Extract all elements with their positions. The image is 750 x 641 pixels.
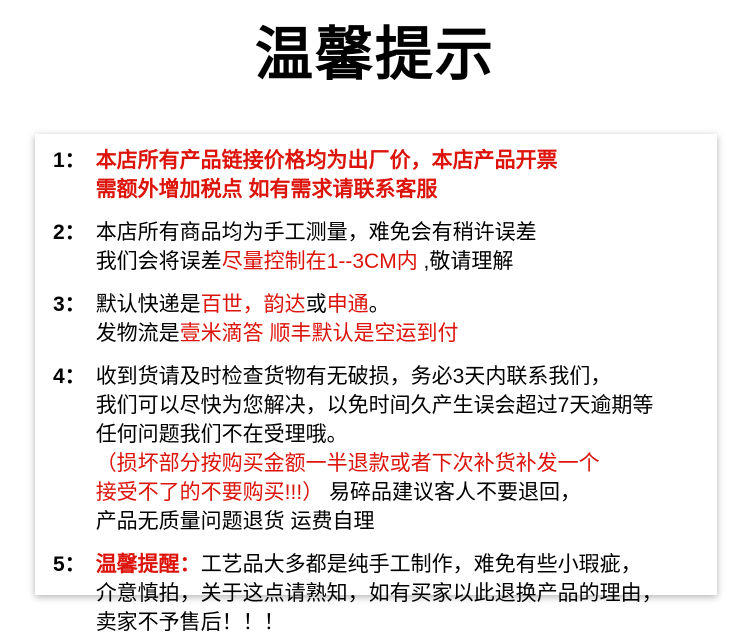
notice-item: 3：默认快递是百世，韵达或申通。发物流是壹米滴答 顺丰默认是空运到付 — [35, 290, 717, 348]
notice-item-body: 默认快递是百世，韵达或申通。发物流是壹米滴答 顺丰默认是空运到付 — [96, 290, 707, 348]
notice-line: 温馨提醒：工艺品大多都是纯手工制作，难免有些小瑕疵， — [96, 550, 707, 579]
notice-line: 本店所有产品链接价格均为出厂价，本店产品开票 — [96, 146, 707, 175]
notice-text-segment: 需额外增加税点 如有需求请联系客服 — [96, 178, 438, 201]
notice-text-segment: ,敬请理解 — [418, 250, 514, 273]
notice-text-segment: 我们会将误差 — [96, 250, 222, 273]
notice-line: 介意慎拍，关于这点请熟知，如有买家以此退换产品的理由， — [96, 579, 707, 608]
notice-item-body: 本店所有商品均为手工测量，难免会有稍许误差我们会将误差尽量控制在1--3CM内 … — [96, 218, 707, 276]
notice-text-segment: 申通 — [327, 293, 369, 316]
notice-text-segment: 工艺品大多都是纯手工制作，难免有些小瑕疵， — [201, 553, 642, 576]
notice-text-segment: 我们可以尽快为您解决，以免时间久产生误会超过7天逾期等 — [96, 394, 654, 417]
page-title: 温馨提示 — [255, 22, 495, 88]
notice-text-segment: 尽量控制在1--3CM内 — [222, 250, 418, 273]
notice-text-segment: 任何问题我们不在受理哦。 — [96, 423, 348, 446]
notice-item-number: 2： — [53, 218, 96, 247]
notice-text-segment: 默认快递是 — [96, 293, 201, 316]
notice-page: 温馨提示 1：本店所有产品链接价格均为出厂价，本店产品开票需额外增加税点 如有需… — [0, 0, 750, 641]
notice-line: 卖家不予售后！！！ — [96, 608, 707, 637]
notice-text-segment: 或 — [306, 293, 327, 316]
notice-item: 1：本店所有产品链接价格均为出厂价，本店产品开票需额外增加税点 如有需求请联系客… — [35, 146, 717, 204]
notice-card: 1：本店所有产品链接价格均为出厂价，本店产品开票需额外增加税点 如有需求请联系客… — [35, 134, 717, 595]
notice-text-segment: 发物流是 — [96, 322, 180, 345]
notice-item-number: 1： — [53, 146, 96, 175]
notice-line: 发物流是壹米滴答 顺丰默认是空运到付 — [96, 319, 707, 348]
notice-line: 默认快递是百世，韵达或申通。 — [96, 290, 707, 319]
notice-line: 我们会将误差尽量控制在1--3CM内 ,敬请理解 — [96, 247, 707, 276]
notice-text-segment: （损坏部分按购买金额一半退款或者下次补货补发一个 — [96, 452, 600, 475]
notice-text-segment: 本店所有商品均为手工测量，难免会有稍许误差 — [96, 221, 537, 244]
notice-text-segment: 。 — [369, 293, 390, 316]
notice-line: 产品无质量问题退货 运费自理 — [96, 507, 707, 536]
notice-item-number: 5： — [53, 550, 96, 579]
notice-line: 需额外增加税点 如有需求请联系客服 — [96, 175, 707, 204]
notice-item: 4：收到货请及时检查货物有无破损，务必3天内联系我们，我们可以尽快为您解决，以免… — [35, 362, 717, 536]
notice-text-segment: 百世，韵达 — [201, 293, 306, 316]
notice-line: 收到货请及时检查货物有无破损，务必3天内联系我们， — [96, 362, 707, 391]
notice-line: 任何问题我们不在受理哦。 — [96, 420, 707, 449]
notice-text-segment: 收到货请及时检查货物有无破损，务必3天内联系我们， — [96, 365, 612, 388]
notice-item-body: 收到货请及时检查货物有无破损，务必3天内联系我们，我们可以尽快为您解决，以免时间… — [96, 362, 707, 536]
notice-text-segment: 壹米滴答 顺丰默认是空运到付 — [180, 322, 459, 345]
notice-item-body: 本店所有产品链接价格均为出厂价，本店产品开票需额外增加税点 如有需求请联系客服 — [96, 146, 707, 204]
notice-item-body: 温馨提醒：工艺品大多都是纯手工制作，难免有些小瑕疵，介意慎拍，关于这点请熟知，如… — [96, 550, 707, 637]
notice-line: 我们可以尽快为您解决，以免时间久产生误会超过7天逾期等 — [96, 391, 707, 420]
page-title-wrap: 温馨提示 — [0, 22, 750, 88]
notice-item-number: 4： — [53, 362, 96, 391]
notice-line: 本店所有商品均为手工测量，难免会有稍许误差 — [96, 218, 707, 247]
notice-item-number: 3： — [53, 290, 96, 319]
notice-item: 2：本店所有商品均为手工测量，难免会有稍许误差我们会将误差尽量控制在1--3CM… — [35, 218, 717, 276]
notice-text-segment: 卖家不予售后！！！ — [96, 611, 285, 634]
notice-line: 接受不了的不要购买!!!） 易碎品建议客人不要退回， — [96, 478, 707, 507]
notice-text-segment: 本店所有产品链接价格均为出厂价，本店产品开票 — [96, 149, 558, 172]
notice-line: （损坏部分按购买金额一半退款或者下次补货补发一个 — [96, 449, 707, 478]
notice-list: 1：本店所有产品链接价格均为出厂价，本店产品开票需额外增加税点 如有需求请联系客… — [35, 134, 717, 637]
notice-item: 5：温馨提醒：工艺品大多都是纯手工制作，难免有些小瑕疵，介意慎拍，关于这点请熟知… — [35, 550, 717, 637]
notice-text-segment: 温馨提醒： — [96, 553, 201, 576]
notice-text-segment: 介意慎拍，关于这点请熟知，如有买家以此退换产品的理由， — [96, 582, 663, 605]
notice-text-segment: 接受不了的不要购买!!!） — [96, 481, 324, 504]
notice-text-segment: 产品无质量问题退货 运费自理 — [96, 510, 375, 533]
notice-text-segment: 易碎品建议客人不要退回， — [323, 481, 581, 504]
